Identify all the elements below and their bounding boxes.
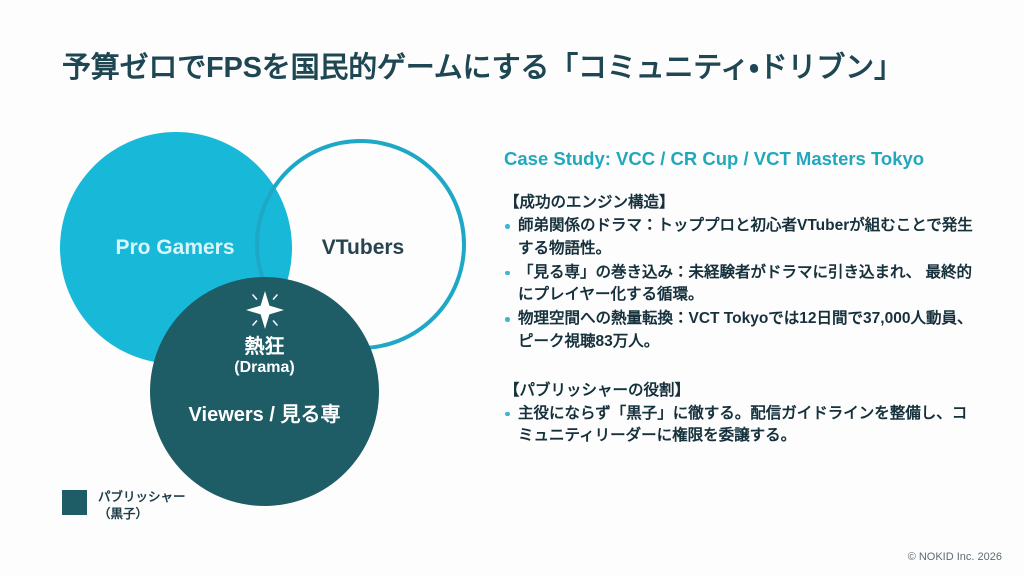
bullet-list: 主役にならず「黒子」に徹する。配信ガイドラインを整備し、コミュニティリーダーに権… bbox=[504, 403, 982, 449]
page-title: 予算ゼロでFPSを国民的ゲームにする「コミュニティ・ドリブン」 bbox=[62, 44, 903, 86]
section-publisher-role: 【パブリッシャーの役割】 主役にならず「黒子」に徹する。配信ガイドラインを整備し… bbox=[504, 378, 982, 449]
content-panel: Case Study: VCC / CR Cup / VCT Masters T… bbox=[504, 148, 982, 449]
list-item: 物理空間への熱量転換：VCT Tokyoでは12日間で37,000人動員、ピーク… bbox=[504, 308, 982, 354]
footer-copyright: © NOKID Inc. 2026 bbox=[908, 551, 1002, 563]
bullet-dot-icon bbox=[505, 412, 510, 417]
list-item: 師弟関係のドラマ：トッププロと初心者VTuberが組むことで発生する物語性。 bbox=[504, 215, 982, 261]
bullet-dot-icon bbox=[505, 271, 510, 276]
venn-label-pro-gamers: Pro Gamers bbox=[92, 236, 258, 260]
list-item: 「見る専」の巻き込み：未経験者がドラマに引き込まれ、 最終的にプレイヤー化する循… bbox=[504, 262, 982, 308]
section-heading: 【成功のエンジン構造】 bbox=[504, 190, 982, 212]
venn-diagram: Pro Gamers VTubers 熱狂 (Drama) Viewers / … bbox=[48, 126, 478, 506]
venn-label-viewers: Viewers / 見る専 bbox=[150, 398, 379, 427]
section-heading: 【パブリッシャーの役割】 bbox=[504, 378, 982, 400]
list-item-label: 物理空間への熱量転換：VCT Tokyoでは12日間で37,000人動員、ピーク… bbox=[518, 310, 972, 350]
legend-label-publisher: パブリッシャー （黒子） bbox=[98, 489, 186, 522]
sparkle-icon bbox=[241, 286, 289, 334]
case-study-heading: Case Study: VCC / CR Cup / VCT Masters T… bbox=[504, 148, 982, 170]
bullet-dot-icon bbox=[505, 224, 510, 229]
venn-label-drama-jp: 熱狂 bbox=[150, 336, 379, 358]
list-item-label: 主役にならず「黒子」に徹する。配信ガイドラインを整備し、コミュニティリーダーに権… bbox=[518, 405, 967, 445]
venn-intersection-group: 熱狂 (Drama) Viewers / 見る専 bbox=[150, 286, 379, 427]
bullet-dot-icon bbox=[505, 317, 510, 322]
venn-legend: パブリッシャー （黒子） bbox=[62, 489, 186, 522]
venn-label-vtubers: VTubers bbox=[290, 236, 436, 260]
venn-label-drama-en: (Drama) bbox=[150, 358, 379, 377]
legend-swatch-publisher bbox=[62, 490, 87, 515]
bullet-list: 師弟関係のドラマ：トッププロと初心者VTuberが組むことで発生する物語性。 「… bbox=[504, 215, 982, 354]
list-item-label: 「見る専」の巻き込み：未経験者がドラマに引き込まれ、 最終的にプレイヤー化する循… bbox=[518, 264, 972, 304]
list-item: 主役にならず「黒子」に徹する。配信ガイドラインを整備し、コミュニティリーダーに権… bbox=[504, 403, 982, 449]
section-success-engine: 【成功のエンジン構造】 師弟関係のドラマ：トッププロと初心者VTuberが組むこ… bbox=[504, 190, 982, 354]
list-item-label: 師弟関係のドラマ：トッププロと初心者VTuberが組むことで発生する物語性。 bbox=[518, 217, 973, 257]
